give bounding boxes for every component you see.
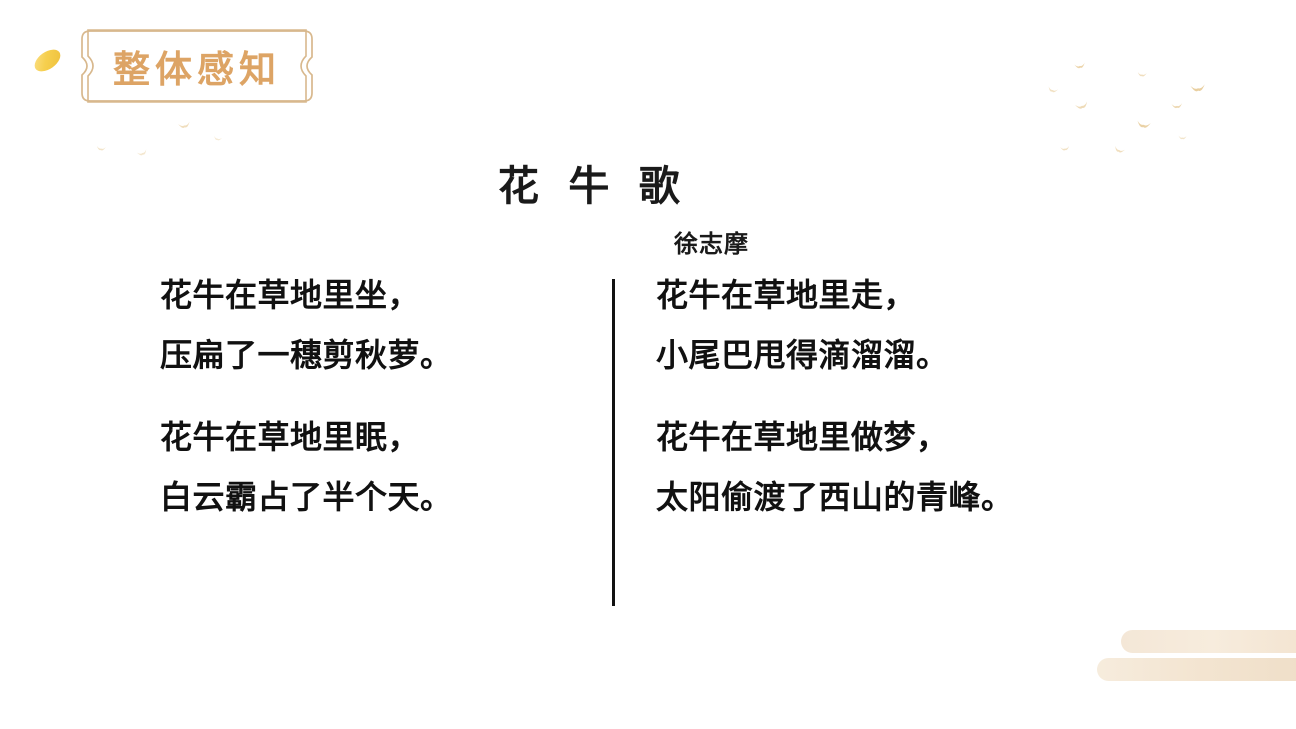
bird-icon [96,145,107,152]
ribbon-bar-lower [1097,658,1296,681]
poem-line: 太阳偷渡了西山的青峰。 [656,481,1014,513]
bird-icon [1137,71,1148,78]
bird-icon [1060,145,1071,152]
poem-line: 小尾巴甩得滴溜溜。 [656,339,1014,371]
bird-icon [1074,100,1090,113]
slide-canvas: 整体感知 花 牛 歌 徐志摩 花牛在草地里坐，压扁了一穗剪秋萝。花牛在草地里眠，… [0,0,1296,729]
poem-column-left: 花牛在草地里坐，压扁了一穗剪秋萝。花牛在草地里眠，白云霸占了半个天。 [160,279,453,513]
bird-icon [1190,83,1207,95]
poem-stanza: 花牛在草地里走，小尾巴甩得滴溜溜。 [656,279,1014,371]
leaf-icon [31,45,65,76]
ribbon-bar-upper [1121,630,1296,653]
column-divider [612,279,615,606]
poem-line: 白云霸占了半个天。 [160,481,453,513]
section-badge: 整体感知 [78,27,316,105]
poem-line: 花牛在草地里走， [656,279,1014,311]
bird-icon [1135,120,1151,131]
bird-icon [177,121,191,132]
poem-stanza: 花牛在草地里坐，压扁了一穗剪秋萝。 [160,279,453,371]
poem-stanza: 花牛在草地里做梦，太阳偷渡了西山的青峰。 [656,421,1014,513]
poem-author: 徐志摩 [674,224,749,259]
poem-column-right: 花牛在草地里走，小尾巴甩得滴溜溜。花牛在草地里做梦，太阳偷渡了西山的青峰。 [656,279,1014,513]
poem-line: 花牛在草地里坐， [160,279,453,311]
poem-line: 压扁了一穗剪秋萝。 [160,339,453,371]
bird-icon [1112,145,1126,156]
bird-icon [1046,85,1059,95]
bird-icon [1073,62,1086,71]
section-badge-label: 整体感知 [78,39,316,93]
bird-icon [136,148,149,158]
bird-icon [212,135,222,143]
poem-title: 花 牛 歌 [498,152,689,212]
poem-stanza: 花牛在草地里眠，白云霸占了半个天。 [160,421,453,513]
poem-line: 花牛在草地里做梦， [656,421,1014,453]
bird-icon [1178,135,1187,141]
bird-icon [1171,103,1183,111]
poem-line: 花牛在草地里眠， [160,421,453,453]
